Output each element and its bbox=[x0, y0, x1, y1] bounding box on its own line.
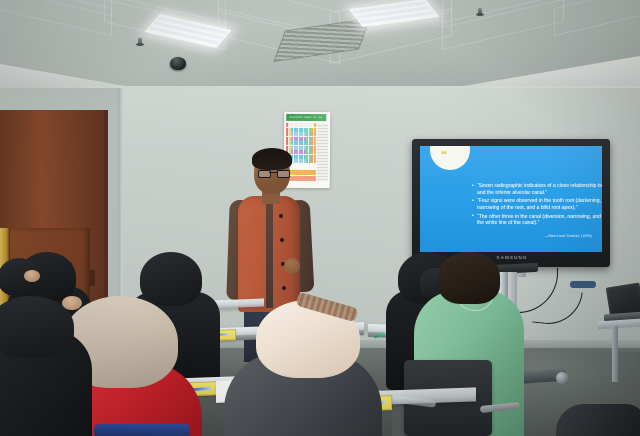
vest-button bbox=[280, 238, 284, 242]
dome-security-camera-icon bbox=[170, 57, 186, 70]
presenter-hand bbox=[284, 258, 300, 274]
slide-bullet-list: “Seven radiographic indicators of a clos… bbox=[432, 183, 602, 229]
vest-button bbox=[282, 286, 286, 290]
stand-caster bbox=[556, 372, 568, 384]
quote-mark-icon: “ bbox=[441, 149, 447, 159]
classroom-photo: PERIODIC TABLE OF THE ELEMENTS bbox=[0, 0, 640, 436]
poster-lanthanide-rows bbox=[286, 170, 316, 182]
laptop-cart-leg bbox=[612, 326, 618, 382]
presenter-hair bbox=[252, 148, 292, 170]
door-hinge bbox=[90, 270, 95, 286]
periodic-table-poster: PERIODIC TABLE OF THE ELEMENTS bbox=[284, 112, 331, 188]
slide-quote-badge: “ bbox=[430, 146, 470, 170]
presenter-shirt-front bbox=[266, 200, 273, 308]
slide-attribution: —Reed and Shahab (1999) bbox=[545, 234, 592, 238]
tv-brand-logo: SAMSUNG bbox=[486, 255, 538, 260]
attendee-hand bbox=[24, 270, 40, 282]
slide-bullet: “Four signs were observed in the tooth r… bbox=[472, 198, 602, 211]
attendee-body bbox=[556, 404, 640, 436]
attendee-head-cover bbox=[140, 252, 202, 306]
attendee-head bbox=[438, 252, 500, 304]
presenter-glasses-icon bbox=[258, 170, 288, 176]
wall-mounted-tray bbox=[570, 281, 596, 288]
sprinkler-head-left bbox=[138, 38, 142, 45]
vest-button bbox=[279, 214, 283, 218]
tv-screen[interactable]: “ “Seven radiographic indicators of a cl… bbox=[420, 146, 602, 252]
slide-bullet: “The other three in the canal (diversion… bbox=[472, 214, 602, 227]
poster-header: PERIODIC TABLE OF THE ELEMENTS bbox=[286, 114, 326, 121]
poster-legend bbox=[317, 123, 328, 181]
chair-back[interactable] bbox=[94, 424, 190, 436]
sprinkler-head-right bbox=[478, 8, 482, 15]
slide-bullet: “Seven radiographic indicators of a clos… bbox=[472, 183, 602, 196]
attendee-head-cover bbox=[0, 296, 74, 358]
